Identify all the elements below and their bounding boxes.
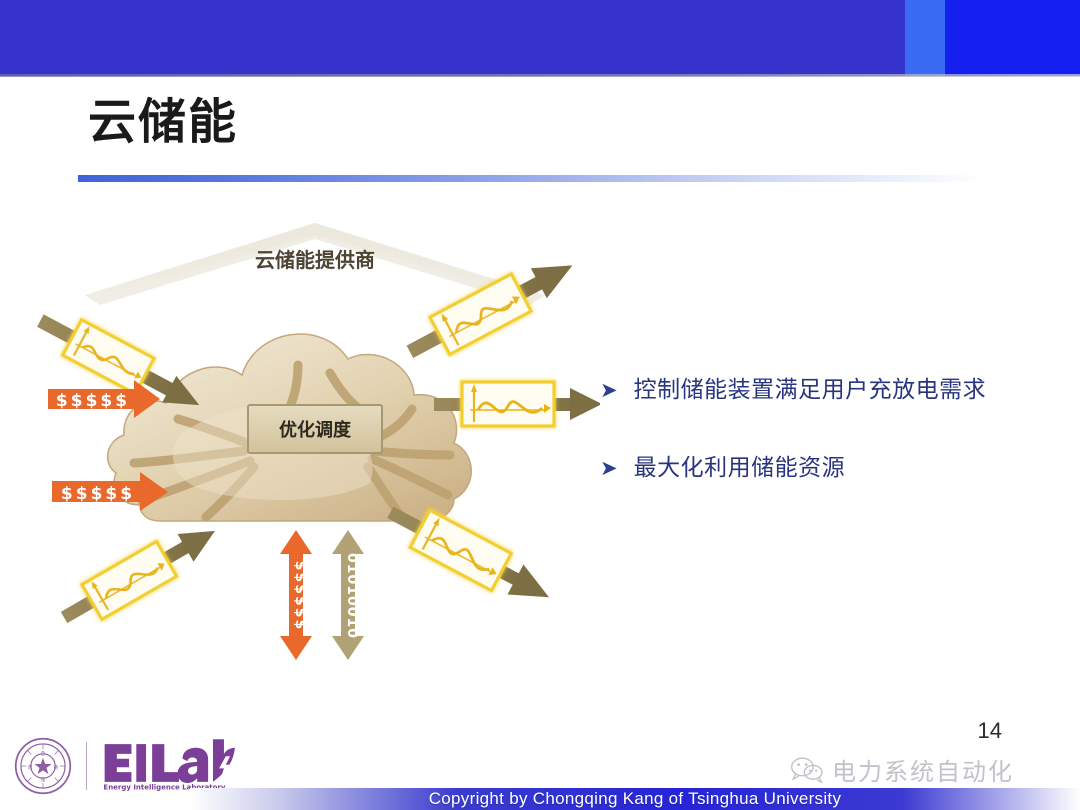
- bullet-item-2: ➤ 最大化利用储能资源: [600, 453, 1070, 483]
- bullet-item-2-text: 最大化利用储能资源: [634, 453, 846, 483]
- bullet-item-1: ➤ 控制储能装置满足用户充放电需求: [600, 375, 1070, 405]
- header-band-deep-block: [945, 0, 1080, 76]
- data-arrow-vertical-label: 01010010: [344, 553, 360, 639]
- svg-text:厚: 厚: [28, 765, 33, 771]
- copyright-text: Copyright by Chongqing Kang of Tsinghua …: [190, 788, 1080, 810]
- logo-divider: [86, 742, 87, 790]
- header-band-main: [0, 0, 905, 76]
- cloud-energy-storage-diagram: 云储能提供商: [30, 205, 600, 675]
- core-label-box: 优化调度: [248, 405, 382, 453]
- bullet-arrow-icon: ➤: [600, 453, 618, 483]
- header-band: [0, 0, 1080, 76]
- copyright-bar: Copyright by Chongqing Kang of Tsinghua …: [190, 788, 1080, 810]
- header-band-light-stripe: [905, 0, 945, 76]
- svg-text:自: 自: [41, 750, 46, 757]
- wechat-watermark: 电力系统自动化: [790, 752, 1014, 787]
- header-divider-rule: [0, 74, 1080, 77]
- provider-label: 云储能提供商: [255, 248, 375, 272]
- money-arrow-top-left-label: $$$$$: [56, 391, 130, 411]
- wechat-watermark-text: 电力系统自动化: [832, 752, 1014, 787]
- tsinghua-seal-icon: 自强 厚德: [14, 737, 72, 795]
- money-arrow-vertical: $$$$$$: [280, 530, 312, 660]
- page-number: 14: [978, 718, 1002, 744]
- core-label-text: 优化调度: [279, 419, 352, 441]
- battery-waveform-right: [434, 382, 600, 426]
- title-underline-gradient: [78, 175, 983, 182]
- svg-text:强: 强: [41, 777, 46, 783]
- bullet-list: ➤ 控制储能装置满足用户充放电需求 ➤ 最大化利用储能资源: [600, 375, 1070, 531]
- wechat-icon: [790, 757, 824, 783]
- bullet-item-1-text: 控制储能装置满足用户充放电需求: [634, 375, 987, 405]
- bullet-arrow-icon: ➤: [600, 375, 618, 405]
- battery-waveform-bottom-left: [54, 514, 225, 636]
- data-arrow-vertical: 01010010: [332, 530, 364, 660]
- money-arrow-bottom-left-label: $$$$$: [61, 484, 135, 504]
- page-title: 云储能: [88, 98, 238, 146]
- money-arrow-vertical-label: $$$$$$: [292, 561, 308, 631]
- slide-canvas: 云储能: [0, 0, 1080, 810]
- svg-text:德: 德: [53, 764, 58, 771]
